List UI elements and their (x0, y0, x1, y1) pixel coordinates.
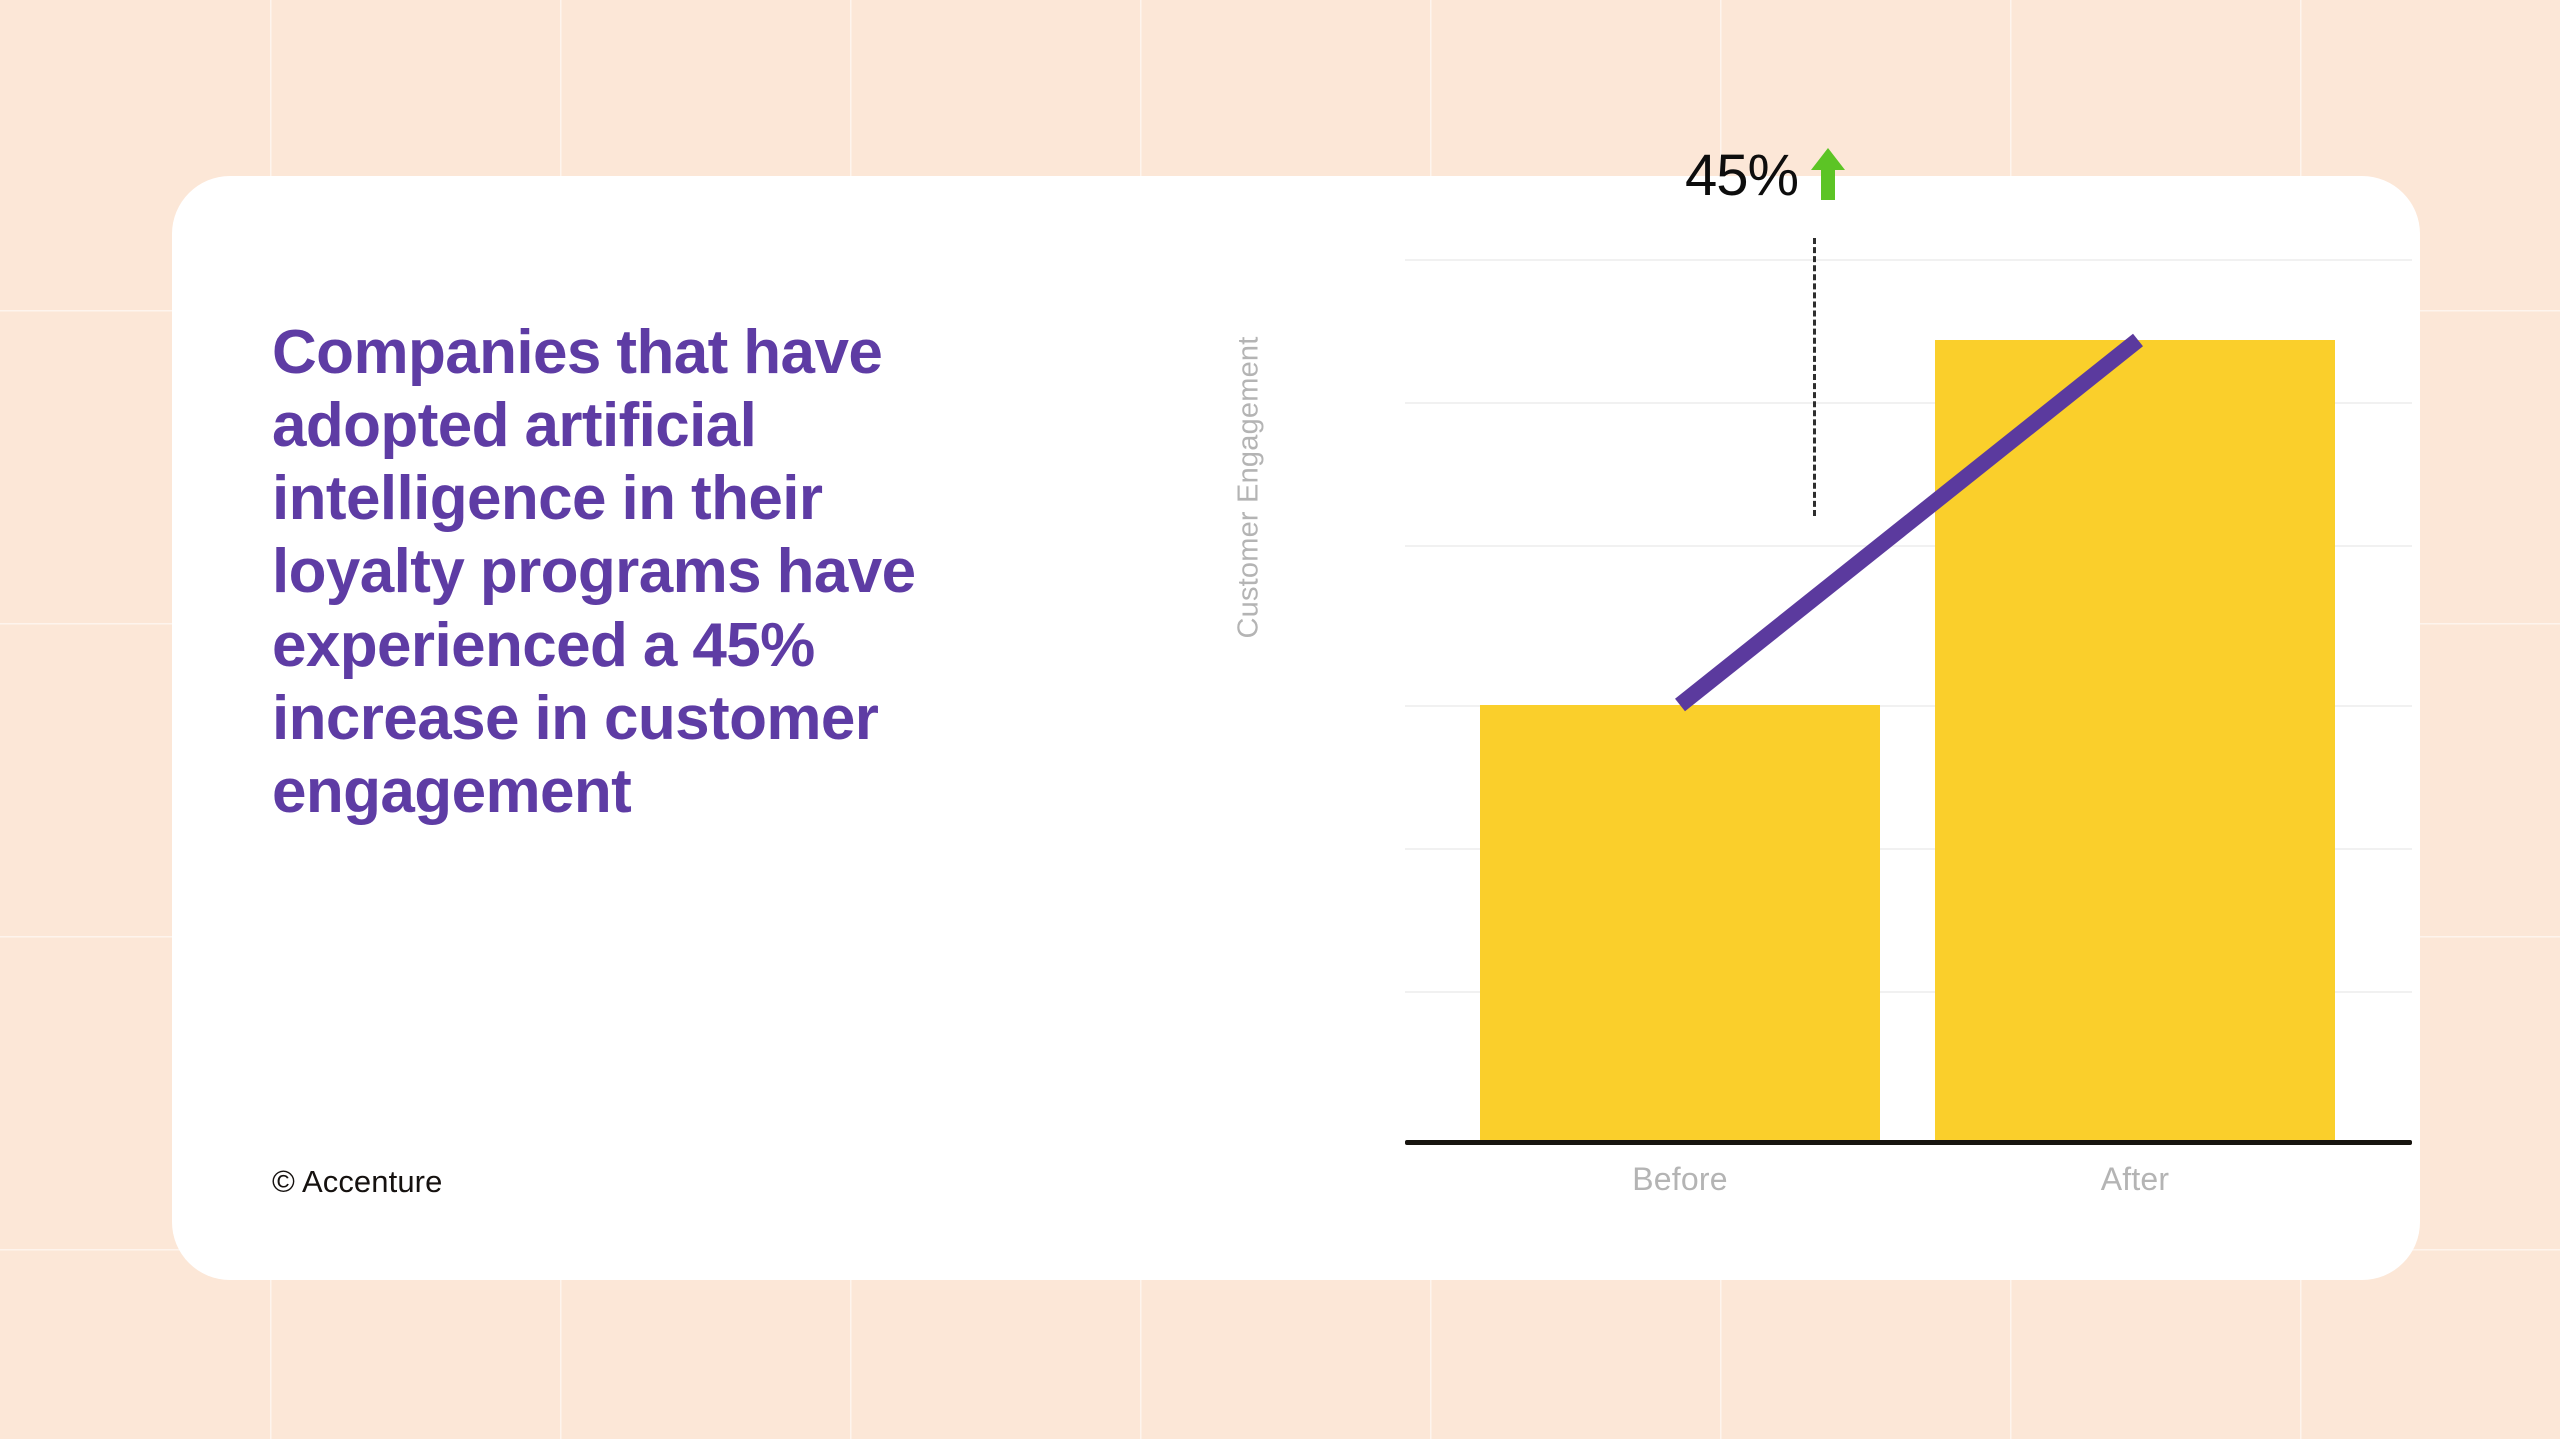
bar-after (1935, 340, 2335, 1140)
plot-area: 45% Before After (1405, 176, 2412, 1280)
x-tick-after: After (1935, 1161, 2335, 1198)
bar-before (1480, 705, 1880, 1140)
annotation-connector-line (1813, 238, 1816, 516)
arrow-up-icon (1808, 146, 1848, 206)
percent-increase-annotation: 45% (1685, 146, 1848, 206)
content-card: Companies that have adopted artificial i… (172, 176, 2420, 1280)
headline-block: Companies that have adopted artificial i… (272, 316, 1012, 828)
infographic-canvas: Companies that have adopted artificial i… (0, 0, 2560, 1439)
attribution-label: © Accenture (272, 1164, 442, 1200)
bar-chart: Customer Engagement (1072, 176, 2392, 1280)
y-axis-label: Customer Engagement (1233, 298, 1266, 678)
gridline (1405, 259, 2412, 261)
x-axis-line (1405, 1140, 2412, 1145)
percent-increase-value: 45% (1685, 147, 1798, 205)
page-title: Companies that have adopted artificial i… (272, 316, 1012, 828)
x-tick-before: Before (1480, 1161, 1880, 1198)
